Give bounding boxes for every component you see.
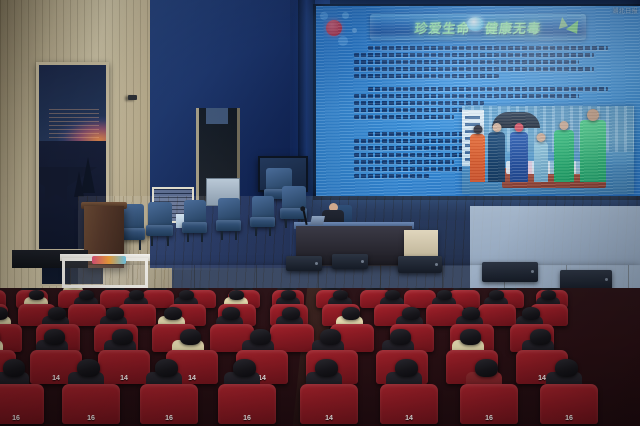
- auditorium-seat[interactable]: 14: [380, 384, 438, 424]
- attendee-head: [460, 329, 481, 345]
- attendee-head: [106, 307, 124, 320]
- person-head: [560, 121, 569, 130]
- auditorium-photo: 珍爱生命 · 健康无毒: [0, 0, 640, 426]
- wall-light-icon: [128, 95, 137, 100]
- pine-tree-icon: [74, 171, 84, 197]
- text-line: [354, 115, 454, 119]
- person-head: [515, 123, 524, 132]
- stage-speaker-monitor: [482, 262, 538, 282]
- attendee-head: [179, 290, 194, 300]
- auditorium-seat[interactable]: [270, 324, 314, 352]
- seat-number: 16: [87, 415, 95, 422]
- text-line: [368, 46, 608, 50]
- attendee-head: [129, 290, 144, 300]
- text-line: [354, 160, 454, 164]
- person-head: [587, 109, 599, 121]
- attendee-head: [3, 359, 25, 377]
- attendee-head: [222, 307, 240, 320]
- photo-person: [488, 132, 505, 182]
- stage-speaker-monitor: [332, 254, 368, 269]
- photo-person: [470, 134, 485, 182]
- attendee-head: [385, 290, 400, 300]
- attendee-head: [530, 329, 551, 345]
- exhibit-poster: [92, 256, 126, 264]
- text-line: [354, 167, 469, 171]
- auditorium-seat[interactable]: 16: [460, 384, 518, 424]
- auditorium-seat[interactable]: 16: [540, 384, 598, 424]
- attendee-head: [155, 359, 178, 377]
- text-line: [354, 94, 579, 98]
- attendee-head: [315, 359, 338, 377]
- stage-speaker-monitor: [560, 270, 612, 290]
- attendee-head: [402, 307, 420, 320]
- attendee-head: [164, 307, 182, 320]
- attendee-head: [555, 359, 578, 377]
- attendee-head: [342, 307, 360, 320]
- seat-number: 16: [485, 415, 493, 422]
- text-line: [354, 67, 594, 71]
- seat-number: 14: [188, 375, 196, 382]
- seat-number: 14: [325, 415, 333, 422]
- watermark-text: 湖北日报: [612, 6, 638, 15]
- seat-number: 16: [165, 415, 173, 422]
- attendee-head: [541, 290, 556, 300]
- photo-person: [510, 132, 528, 182]
- text-line: [354, 60, 579, 64]
- seat-number: 14: [120, 375, 128, 382]
- attendee-head: [48, 307, 66, 320]
- text-line: [354, 174, 429, 178]
- attendee-head: [250, 329, 271, 345]
- photo-person: [554, 130, 574, 182]
- attendee-head: [489, 290, 504, 300]
- seat-number: 14: [52, 375, 60, 382]
- blue-bubble-icon: [320, 12, 328, 20]
- attendee-head: [390, 329, 411, 345]
- auditorium-seat[interactable]: 16: [0, 384, 44, 424]
- stage-chair[interactable]: [184, 200, 206, 242]
- attendee-head: [233, 359, 256, 377]
- seat-number: 16: [243, 415, 251, 422]
- blue-bubble-icon: [342, 12, 349, 19]
- auditorium-seat[interactable]: 16: [140, 384, 198, 424]
- slide-paragraph: [354, 46, 604, 81]
- attendee-head: [395, 359, 418, 377]
- seat-number: 16: [12, 415, 20, 422]
- auditorium-seat[interactable]: 16: [62, 384, 120, 424]
- auditorium-seat[interactable]: [478, 304, 516, 326]
- attendee-head: [462, 307, 480, 320]
- attendee-head: [333, 290, 348, 300]
- person-head: [492, 123, 501, 132]
- blue-bubble-icon: [352, 28, 357, 33]
- person-head: [473, 125, 482, 134]
- stage-chair[interactable]: [218, 198, 240, 240]
- attendee-head: [29, 290, 44, 300]
- attendee-head: [281, 290, 296, 300]
- projection-screen[interactable]: 珍爱生命 · 健康无毒: [316, 6, 640, 196]
- stage-speaker-monitor: [286, 256, 322, 271]
- text-line: [354, 101, 484, 105]
- attendee-head: [437, 290, 452, 300]
- slide-embedded-photo: [462, 106, 634, 194]
- attendee-head: [79, 290, 94, 300]
- doorway-light-panel: [206, 108, 228, 124]
- seat-number: 14: [405, 415, 413, 422]
- photo-person: [580, 120, 606, 182]
- auditorium-seat[interactable]: 14: [98, 350, 150, 384]
- stage-chair[interactable]: [148, 202, 172, 246]
- person-head: [537, 133, 546, 142]
- blue-bubble-icon: [338, 36, 348, 46]
- slide-title-banner: 珍爱生命 · 健康无毒: [370, 14, 586, 40]
- seat-number: 14: [538, 375, 546, 382]
- text-line: [354, 53, 594, 57]
- attendee-head: [77, 359, 100, 377]
- attendee-head: [522, 307, 540, 320]
- auditorium-seat[interactable]: [0, 324, 22, 352]
- stage-speaker-monitor: [398, 256, 442, 273]
- text-line: [354, 153, 469, 157]
- text-line: [354, 74, 499, 78]
- attendee-head: [475, 359, 498, 377]
- auditorium-seat[interactable]: 14: [300, 384, 358, 424]
- audience-seating: 1214141414141414141616161614141616: [0, 288, 640, 426]
- auditorium-seat[interactable]: 16: [218, 384, 276, 424]
- attendee-head: [282, 307, 300, 320]
- attendee-head: [112, 329, 133, 345]
- red-bubble-icon: [326, 20, 342, 36]
- stage-chair[interactable]: [252, 196, 274, 236]
- text-line: [368, 87, 608, 91]
- attendee-head: [229, 290, 244, 300]
- attendee-head: [320, 329, 341, 345]
- laptop-icon[interactable]: [310, 216, 325, 225]
- seat-number: 16: [565, 415, 573, 422]
- globe-emblem-icon: [467, 17, 484, 31]
- text-line: [354, 146, 469, 150]
- attendee-head: [180, 329, 201, 345]
- photo-person: [534, 142, 548, 182]
- attendee-head: [44, 329, 65, 345]
